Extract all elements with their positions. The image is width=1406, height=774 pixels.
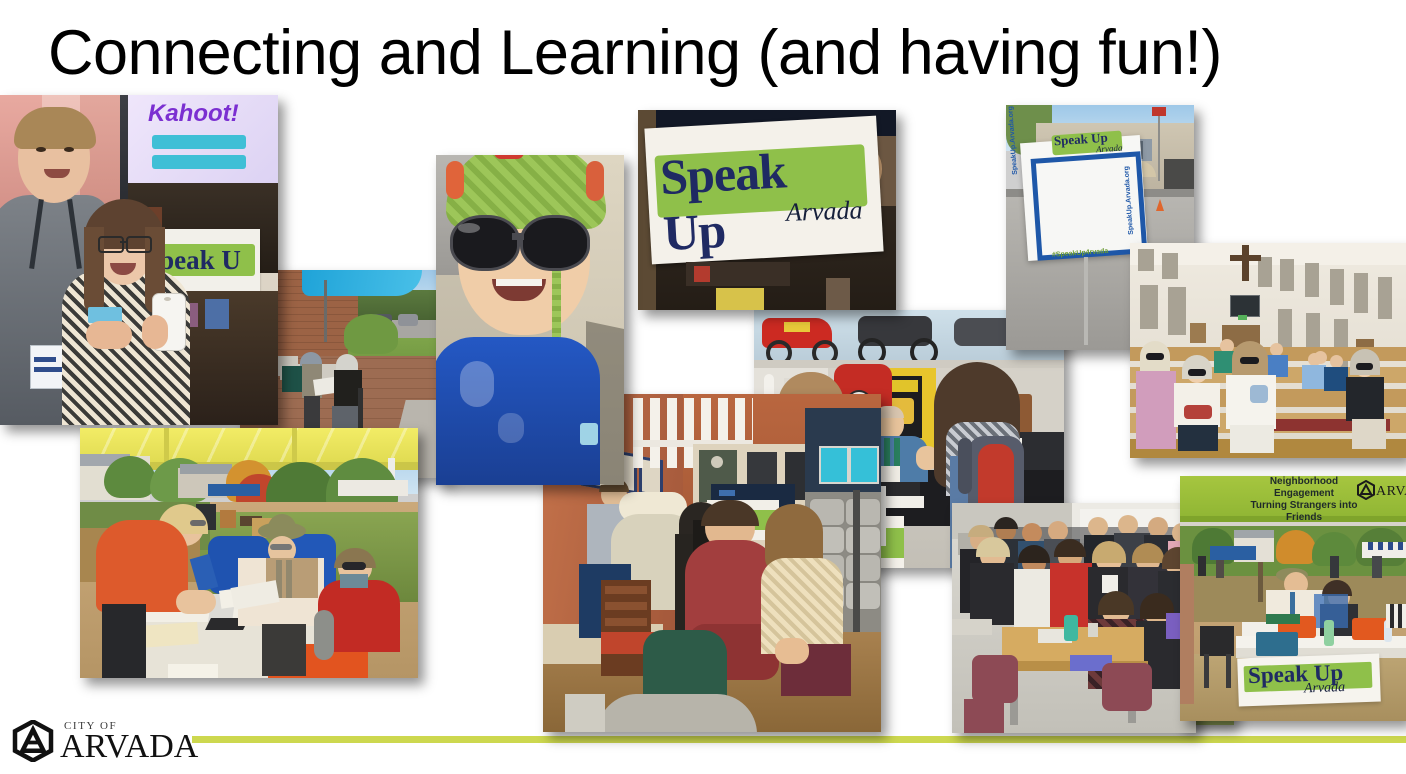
collage-photo-church-group	[1130, 243, 1406, 458]
collage-photo-kahoot-pair: Kahoot! Speak U	[0, 95, 278, 425]
presentation-slide: Connecting and Learning (and having fun!…	[0, 0, 1406, 774]
photo-collage: Kahoot! Speak U	[0, 95, 1406, 725]
city-of-arvada-logo: CITY OF ARVADA	[10, 718, 198, 764]
arvada-hexagon-a-logo-icon	[10, 720, 56, 762]
collage-photo-child-sunglasses	[436, 155, 624, 485]
logo-arvada-wordmark: ARVADA	[60, 733, 198, 761]
collage-photo-arvada-engagement-tent: Neighborhood EngagementTurning Strangers…	[1180, 476, 1406, 721]
footer-accent-bar	[192, 736, 1406, 743]
collage-photo-classroom-students	[952, 503, 1196, 733]
collage-photo-canopy-signup-table	[80, 428, 418, 678]
collage-photo-speak-up-banner: Speak Up Arvada	[638, 110, 896, 310]
page-title: Connecting and Learning (and having fun!…	[48, 14, 1368, 92]
